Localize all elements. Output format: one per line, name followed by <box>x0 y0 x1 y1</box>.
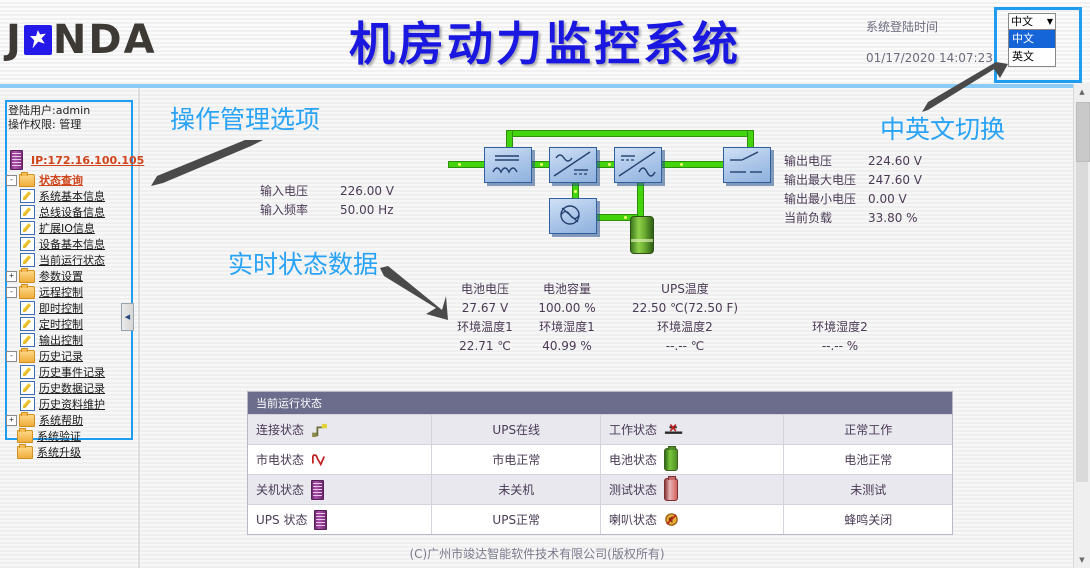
tree-spacer <box>6 432 15 441</box>
output-readout-label: 输出最大电压 <box>784 171 868 190</box>
status-value-cell: UPS正常 <box>431 505 600 534</box>
utility-wave-icon <box>311 453 327 467</box>
sidebar-tree-item[interactable]: 系统升级 <box>6 444 126 460</box>
readout-row: 输入电压226.00 V <box>260 182 430 201</box>
status-value-cell: 未关机 <box>431 475 600 504</box>
env-humidity1-value: 40.99 % <box>524 337 610 356</box>
env-readout-labels-row: 环境温度1 环境湿度1 环境温度2 环境湿度2 <box>446 318 966 337</box>
status-label-cell: 电池状态 <box>600 445 783 474</box>
battery-capacity-value: 100.00 % <box>524 299 610 318</box>
sidebar-tree-item-label[interactable]: 历史事件记录 <box>39 364 105 380</box>
env-humidity2-label: 环境湿度2 <box>760 318 920 337</box>
table-row: 关机状态未关机测试状态未测试 <box>248 474 952 504</box>
vertical-scrollbar[interactable]: ▲ ▼ <box>1073 84 1090 568</box>
page-edit-icon <box>20 317 35 331</box>
sidebar-tree-item[interactable]: 历史资料维护 <box>6 396 126 412</box>
status-label-cell: 市电状态 <box>248 445 431 474</box>
battery-red-icon <box>664 478 678 501</box>
env-temp1-label: 环境温度1 <box>446 318 524 337</box>
folder-icon <box>17 430 33 443</box>
login-time-block: 系统登陆时间 01/17/2020 14:07:23 <box>866 20 1006 65</box>
chevron-left-icon: ◀ <box>125 314 130 321</box>
status-value: 电池正常 <box>844 451 892 468</box>
status-value-cell: UPS在线 <box>431 415 600 444</box>
work-mode-icon <box>664 423 684 437</box>
output-readout-panel: 输出电压224.60 V输出最大电压247.60 V输出最小电压0.00 V当前… <box>784 152 958 228</box>
readout-row: 输出电压224.60 V <box>784 152 958 171</box>
sidebar-tree-item-label[interactable]: 定时控制 <box>39 316 83 332</box>
speaker-muted-icon <box>664 512 679 527</box>
status-label: 连接状态 <box>256 421 304 438</box>
status-label-cell: 连接状态 <box>248 415 431 444</box>
sidebar-tree-item-label[interactable]: 扩展IO信息 <box>39 220 95 236</box>
status-value-cell: 市电正常 <box>431 445 600 474</box>
output-readout-value: 33.80 % <box>868 209 958 228</box>
sidebar-tree-item-label[interactable]: 设备基本信息 <box>39 236 105 252</box>
sidebar-tree[interactable]: -状态查询系统基本信息总线设备信息扩展IO信息设备基本信息当前运行状态+参数设置… <box>6 172 126 460</box>
ups-temperature-value: 22.50 ℃(72.50 F) <box>610 299 760 318</box>
page-edit-icon <box>20 221 35 235</box>
status-label-cell: 工作状态 <box>600 415 783 444</box>
sidebar-tree-item-label[interactable]: 当前运行状态 <box>39 252 105 268</box>
sidebar-tree-item-label[interactable]: 历史记录 <box>39 348 83 364</box>
input-readout-panel: 输入电压226.00 V输入频率50.00 Hz <box>260 182 430 220</box>
device-module-icon <box>10 150 23 170</box>
status-label-cell: 测试状态 <box>600 475 783 504</box>
block-rectifier <box>549 147 597 183</box>
sidebar-device-ip[interactable]: IP:172.16.100.105 <box>10 150 144 170</box>
battery-capacity-label: 电池容量 <box>524 280 610 299</box>
status-label: 测试状态 <box>609 481 657 498</box>
readout-row: 输出最大电压247.60 V <box>784 171 958 190</box>
collapse-icon[interactable]: - <box>6 287 17 298</box>
block-input-filter <box>484 147 532 183</box>
wire-bypass-top <box>506 130 754 137</box>
status-value-cell: 蜂鸣关闭 <box>783 505 952 534</box>
sidebar-tree-item-label[interactable]: 输出控制 <box>39 332 83 348</box>
battery-readout-values-row: 27.67 V 100.00 % 22.50 ℃(72.50 F) <box>446 299 966 318</box>
status-value-cell: 正常工作 <box>783 415 952 444</box>
input-readout-value: 50.00 Hz <box>340 201 430 220</box>
sidebar-tree-item[interactable]: 总线设备信息 <box>6 204 126 220</box>
module-icon <box>314 510 327 530</box>
switch-symbol-icon <box>724 148 768 180</box>
env-humidity2-value: --.-- % <box>760 337 920 356</box>
status-value-cell: 未测试 <box>783 475 952 504</box>
annotation-realtime-label: 实时状态数据 <box>228 245 378 281</box>
sidebar-tree-item-label[interactable]: 历史数据记录 <box>39 380 105 396</box>
scroll-up-arrow-icon[interactable]: ▲ <box>1074 84 1090 100</box>
annotation-language-label: 中英文切换 <box>880 110 1005 146</box>
sidebar-tree-item[interactable]: -状态查询 <box>6 172 126 188</box>
env-readout-values-row: 22.71 ℃ 40.99 % --.-- ℃ --.-- % <box>446 337 966 356</box>
page-edit-icon <box>20 301 35 315</box>
battery-green-icon <box>664 448 678 471</box>
language-option-english[interactable]: 英文 <box>1009 48 1055 66</box>
sidebar-tree-item[interactable]: 历史数据记录 <box>6 380 126 396</box>
sidebar-tree-item[interactable]: -历史记录 <box>6 348 126 364</box>
login-time-label: 系统登陆时间 <box>866 20 1006 34</box>
status-label-cell: 关机状态 <box>248 475 431 504</box>
connection-icon <box>311 423 329 437</box>
language-option-list[interactable]: 中文 英文 <box>1008 30 1056 67</box>
annotation-arrow-menu <box>145 138 265 190</box>
page-edit-icon <box>20 205 35 219</box>
status-label: 关机状态 <box>256 481 304 498</box>
status-value-cell: 电池正常 <box>783 445 952 474</box>
page-edit-icon <box>20 253 35 267</box>
chevron-down-icon: ▼ <box>1047 14 1053 29</box>
env-temp2-label: 环境温度2 <box>610 318 760 337</box>
folder-icon <box>19 270 35 283</box>
folder-icon <box>19 174 35 187</box>
sidebar-tree-item-label[interactable]: 状态查询 <box>39 172 83 188</box>
sidebar-collapse-handle[interactable]: ◀ <box>121 303 134 331</box>
device-ip-link[interactable]: IP:172.16.100.105 <box>31 154 144 167</box>
status-value: UPS正常 <box>492 511 540 528</box>
block-bypass-switch <box>723 147 771 183</box>
status-value: 正常工作 <box>844 421 892 438</box>
status-value: 未测试 <box>850 481 886 498</box>
status-value: 蜂鸣关闭 <box>844 511 892 528</box>
output-readout-label: 输出电压 <box>784 152 868 171</box>
table-row: 连接状态UPS在线工作状态正常工作 <box>248 414 952 444</box>
sidebar-tree-item-label[interactable]: 远程控制 <box>39 284 83 300</box>
collapse-icon[interactable]: - <box>6 175 17 186</box>
folder-icon <box>17 446 33 459</box>
sidebar-role-line: 操作权限: 管理 <box>8 118 90 132</box>
input-readout-value: 226.00 V <box>340 182 430 201</box>
collapse-icon[interactable]: - <box>6 351 17 362</box>
app-root: J NDA 机房动力监控系统 系统登陆时间 01/17/2020 14:07:2… <box>0 0 1090 568</box>
sidebar-user-info: 登陆用户:admin 操作权限: 管理 <box>8 104 90 132</box>
block-inverter <box>614 147 662 183</box>
status-label-cell: UPS 状态 <box>248 505 431 534</box>
annotation-arrow-language <box>920 62 1010 114</box>
input-readout-label: 输入频率 <box>260 201 340 220</box>
module-icon <box>311 480 324 500</box>
current-status-table: 当前运行状态 连接状态UPS在线工作状态正常工作市电状态市电正常电池状态电池正常… <box>247 391 953 535</box>
expand-icon[interactable]: + <box>6 271 17 282</box>
sidebar-tree-item[interactable]: 系统验证 <box>6 428 126 444</box>
readout-row: 输出最小电压0.00 V <box>784 190 958 209</box>
env-humidity1-label: 环境湿度1 <box>524 318 610 337</box>
ups-temperature-label: UPS温度 <box>610 280 760 299</box>
sidebar-tree-item[interactable]: +参数设置 <box>6 268 126 284</box>
readout-row: 输入频率50.00 Hz <box>260 201 430 220</box>
sidebar-tree-item[interactable]: 定时控制 <box>6 316 126 332</box>
battery-row1-value-spacer <box>760 299 920 318</box>
status-label: 工作状态 <box>609 421 657 438</box>
status-label: 电池状态 <box>609 451 657 468</box>
sidebar-tree-item-label[interactable]: 系统基本信息 <box>39 188 105 204</box>
page-edit-icon <box>20 189 35 203</box>
expand-icon[interactable]: + <box>6 415 17 426</box>
input-readout-label: 输入电压 <box>260 182 340 201</box>
sidebar-tree-item-label[interactable]: 总线设备信息 <box>39 204 105 220</box>
inverter-symbol-icon <box>615 148 659 180</box>
folder-icon <box>19 350 35 363</box>
battery-env-readout-panel: 电池电压 电池容量 UPS温度 27.67 V 100.00 % 22.50 ℃… <box>446 280 966 356</box>
sidebar-tree-item[interactable]: 系统基本信息 <box>6 188 126 204</box>
battery-readout-labels-row: 电池电压 电池容量 UPS温度 <box>446 280 966 299</box>
env-temp1-value: 22.71 ℃ <box>446 337 524 356</box>
sidebar-tree-item[interactable]: 扩展IO信息 <box>6 220 126 236</box>
sidebar-tree-item[interactable]: 输出控制 <box>6 332 126 348</box>
battery-row1-spacer <box>760 280 920 299</box>
sidebar-tree-item[interactable]: 当前运行状态 <box>6 252 126 268</box>
sidebar-tree-item[interactable]: -远程控制 <box>6 284 126 300</box>
sidebar-tree-item-label[interactable]: 即时控制 <box>39 300 83 316</box>
battery-voltage-label: 电池电压 <box>446 280 524 299</box>
status-label: UPS 状态 <box>256 511 307 528</box>
sidebar-tree-item-label[interactable]: 系统升级 <box>37 444 81 460</box>
readout-row: 当前负载33.80 % <box>784 209 958 228</box>
footer-copyright: (C)广州市竣达智能软件技术有限公司(版权所有) <box>0 545 1074 562</box>
scrollbar-thumb[interactable] <box>1076 102 1090 162</box>
sidebar-tree-item[interactable]: 历史事件记录 <box>6 364 126 380</box>
page-edit-icon <box>20 381 35 395</box>
block-charger <box>549 198 597 234</box>
table-row: 市电状态市电正常电池状态电池正常 <box>248 444 952 474</box>
battery-unit-icon <box>630 216 654 254</box>
sidebar-tree-item-label[interactable]: 系统验证 <box>37 428 81 444</box>
folder-icon <box>19 414 35 427</box>
page-edit-icon <box>20 237 35 251</box>
charger-symbol-icon <box>550 199 594 231</box>
rectifier-symbol-icon <box>550 148 594 180</box>
status-value: UPS在线 <box>492 421 540 438</box>
scrollbar-track[interactable] <box>1076 162 1088 482</box>
status-value: 未关机 <box>498 481 534 498</box>
sidebar-tree-item-label[interactable]: 参数设置 <box>39 268 83 284</box>
battery-voltage-value: 27.67 V <box>446 299 524 318</box>
sidebar-tree-item[interactable]: 设备基本信息 <box>6 236 126 252</box>
tree-spacer <box>6 448 15 457</box>
table-row: UPS 状态UPS正常喇叭状态蜂鸣关闭 <box>248 504 952 534</box>
env-temp2-value: --.-- ℃ <box>610 337 760 356</box>
status-label: 市电状态 <box>256 451 304 468</box>
scroll-down-arrow-icon[interactable]: ▼ <box>1074 552 1090 568</box>
language-option-chinese[interactable]: 中文 <box>1009 30 1055 48</box>
filter-symbol-icon <box>485 148 529 180</box>
ups-block-diagram <box>448 128 768 260</box>
page-edit-icon <box>20 397 35 411</box>
status-value: 市电正常 <box>492 451 540 468</box>
page-edit-icon <box>20 365 35 379</box>
sidebar-user-line: 登陆用户:admin <box>8 104 90 118</box>
sidebar-tree-item-label[interactable]: 历史资料维护 <box>39 396 105 412</box>
language-selected-value: 中文 <box>1011 15 1033 28</box>
annotation-arrow-realtime <box>378 266 450 322</box>
output-readout-value: 224.60 V <box>868 152 958 171</box>
status-table-title: 当前运行状态 <box>248 392 952 414</box>
status-table-body: 连接状态UPS在线工作状态正常工作市电状态市电正常电池状态电池正常关机状态未关机… <box>248 414 952 534</box>
output-readout-value: 0.00 V <box>868 190 958 209</box>
sidebar-tree-item[interactable]: +系统帮助 <box>6 412 126 428</box>
annotation-menu-label: 操作管理选项 <box>170 100 320 136</box>
folder-icon <box>19 286 35 299</box>
output-readout-value: 247.60 V <box>868 171 958 190</box>
output-readout-label: 输出最小电压 <box>784 190 868 209</box>
status-label: 喇叭状态 <box>609 511 657 528</box>
language-select[interactable]: 中文 ▼ <box>1008 13 1056 30</box>
page-edit-icon <box>20 333 35 347</box>
status-label-cell: 喇叭状态 <box>600 505 783 534</box>
output-readout-label: 当前负载 <box>784 209 868 228</box>
sidebar-tree-item[interactable]: 即时控制 <box>6 300 126 316</box>
sidebar-tree-item-label[interactable]: 系统帮助 <box>39 412 83 428</box>
